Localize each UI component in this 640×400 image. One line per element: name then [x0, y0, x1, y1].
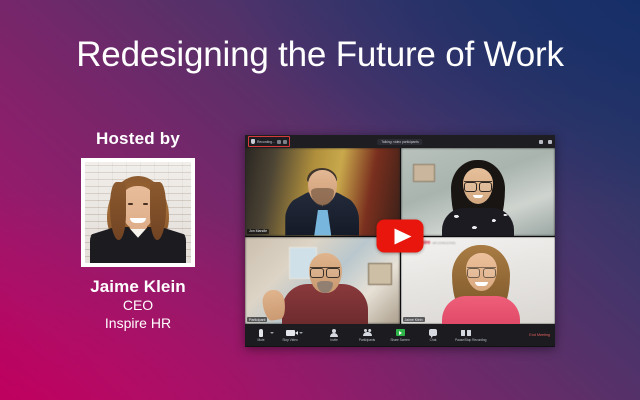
tile1-name-label: Jon Mandle	[247, 229, 269, 234]
host-organization: Inspire HR	[58, 315, 218, 333]
invite-label: Invite	[323, 338, 345, 342]
avatar-eye-left	[128, 203, 133, 205]
zoom-toolbar: Mute Stop Video Invite Participants	[245, 324, 555, 346]
meeting-status: Talking: video participants	[377, 139, 422, 145]
stop-video-button[interactable]: Stop Video	[279, 328, 301, 342]
avatar-smile	[130, 218, 146, 223]
mute-label: Mute	[250, 338, 272, 342]
avatar-frame	[81, 158, 195, 267]
video-tile-top-right[interactable]	[401, 148, 556, 236]
stop-video-label: Stop Video	[279, 338, 301, 342]
shield-icon	[251, 139, 255, 144]
share-screen-button[interactable]: Share Screen	[389, 328, 411, 342]
microphone-icon	[250, 328, 272, 337]
tile2-smile	[473, 195, 483, 198]
tile3-wall-art	[368, 263, 392, 285]
share-screen-icon	[389, 328, 411, 337]
stop-icon[interactable]	[283, 140, 287, 144]
page-title: Redesigning the Future of Work	[0, 36, 640, 75]
end-meeting-button[interactable]: End Meeting	[529, 333, 550, 337]
avatar-eye-right	[143, 203, 148, 205]
topbar-right-controls[interactable]	[539, 140, 552, 144]
tile2-glasses	[464, 181, 492, 190]
share-screen-label: Share Screen	[389, 338, 411, 342]
participants-label: Participants	[356, 338, 378, 342]
tile4-glasses	[467, 267, 496, 276]
tile3-name-label: Participant	[247, 317, 267, 322]
tile2-wall-art	[413, 164, 435, 182]
record-label: Pause/Stop Recording	[455, 338, 477, 342]
recording-indicator[interactable]: Recording...	[248, 136, 290, 147]
tile4-name-label: Jaime Klein	[403, 317, 425, 322]
tile2-patterned-top	[442, 208, 514, 236]
pause-icon[interactable]	[277, 140, 281, 144]
tile4-smile	[475, 282, 488, 286]
host-role: CEO	[58, 297, 218, 315]
chat-bubble-icon	[422, 328, 444, 337]
fullscreen-icon[interactable]	[548, 140, 552, 144]
camera-icon	[279, 328, 301, 337]
toolbar-left-group: Mute Stop Video	[250, 328, 301, 342]
avatar	[85, 162, 191, 263]
chat-button[interactable]: Chat	[422, 328, 444, 342]
toolbar-center-group: Invite Participants Share Screen Chat Pa…	[323, 328, 477, 342]
hosted-by-label: Hosted by	[58, 129, 218, 149]
backdrop-logo-tagline: HR CONSULTING	[432, 241, 455, 245]
video-chevron-down-icon[interactable]	[299, 332, 303, 334]
mute-chevron-down-icon[interactable]	[270, 332, 274, 334]
video-tile-top-left[interactable]: Jon Mandle	[245, 148, 400, 236]
participants-button[interactable]: Participants	[356, 328, 378, 342]
record-button[interactable]: Pause/Stop Recording	[455, 328, 477, 342]
speaker-view-icon[interactable]	[539, 140, 543, 144]
host-card: Hosted by Jaime Klein CEO Inspire HR	[58, 129, 218, 332]
participants-icon	[356, 328, 378, 337]
play-triangle-icon	[394, 228, 411, 244]
recording-label: Recording...	[257, 140, 275, 144]
video-player[interactable]: Recording... Talking: video participants	[245, 135, 555, 347]
mute-button[interactable]: Mute	[250, 328, 272, 342]
video-grid: Jon Mandle Participant	[245, 148, 555, 324]
meeting-status-label: Talking: video participants	[381, 140, 418, 144]
youtube-play-button[interactable]	[377, 220, 424, 253]
tile3-glasses	[310, 267, 340, 276]
avatar-hair-left	[110, 182, 126, 240]
invite-person-icon	[323, 328, 345, 337]
record-icon	[455, 328, 477, 337]
chat-label: Chat	[422, 338, 444, 342]
video-tile-bottom-right[interactable]: InspireHR CONSULTING Jaime Klein	[401, 237, 556, 325]
tile4-pink-top	[442, 296, 520, 324]
zoom-topbar: Recording... Talking: video participants	[245, 135, 555, 148]
invite-button[interactable]: Invite	[323, 328, 345, 342]
video-tile-bottom-left[interactable]: Participant	[245, 237, 400, 325]
webinar-title-slide: Redesigning the Future of Work Hosted by…	[0, 0, 640, 400]
host-name: Jaime Klein	[58, 277, 218, 297]
